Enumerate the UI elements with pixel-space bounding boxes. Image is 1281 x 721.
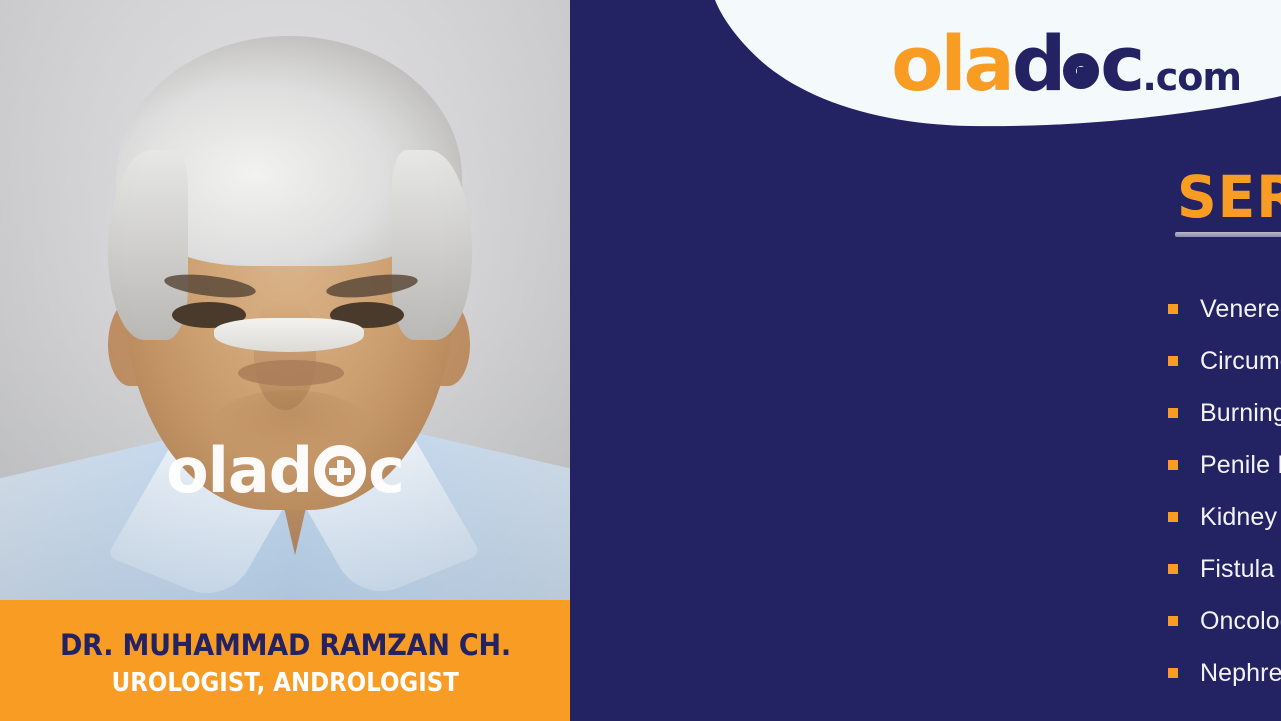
- doctor-photo-panel: olad c: [0, 0, 570, 600]
- doctor-services-card: olad c DR. MUHAMMAD RAMZAN CH. UROLOGIST…: [0, 0, 1281, 721]
- watermark-text-post: c: [368, 440, 404, 502]
- service-item[interactable]: Nephrectomy: [1168, 647, 1281, 699]
- service-label: Venereology: [1200, 295, 1281, 324]
- logo-text-d: d: [1012, 26, 1063, 102]
- doctor-name-banner: DR. MUHAMMAD RAMZAN CH. UROLOGIST, ANDRO…: [0, 600, 570, 721]
- bullet-square-icon: [1168, 616, 1178, 626]
- services-heading: SERVICES: [1177, 168, 1281, 226]
- services-columns: Venereology Circumcision Burning Micturi…: [1168, 283, 1281, 699]
- service-item[interactable]: Venereology: [1168, 283, 1281, 335]
- bullet-square-icon: [1168, 356, 1178, 366]
- watermark-plus-circle-icon: [314, 445, 366, 497]
- service-label: Oncological Surgery: [1200, 607, 1281, 636]
- doctor-portrait-image: [0, 0, 570, 600]
- services-panel: ola d c .com SERVICES Venereology Circum…: [570, 0, 1281, 721]
- doctor-specialty: UROLOGIST, ANDROLOGIST: [111, 668, 458, 698]
- service-label: Fistula: [1200, 555, 1274, 584]
- oladoc-watermark: olad c: [0, 440, 570, 502]
- services-left-column: Venereology Circumcision Burning Micturi…: [1168, 283, 1281, 699]
- service-item[interactable]: Burning Micturition: [1168, 387, 1281, 439]
- doctor-name: DR. MUHAMMAD RAMZAN CH.: [59, 628, 510, 662]
- watermark-text-pre: olad: [166, 440, 312, 502]
- service-item[interactable]: Penile Implants: [1168, 439, 1281, 491]
- logo-text-c: c: [1100, 26, 1142, 102]
- logo-tld: .com: [1142, 58, 1241, 96]
- service-item[interactable]: Fistula: [1168, 543, 1281, 595]
- portrait-vignette: [0, 0, 570, 600]
- logo-plus-circle-icon: [1063, 53, 1099, 89]
- bullet-square-icon: [1168, 668, 1178, 678]
- oladoc-logo[interactable]: ola d c .com: [891, 26, 1241, 102]
- bullet-square-icon: [1168, 304, 1178, 314]
- service-item[interactable]: Circumcision: [1168, 335, 1281, 387]
- service-item[interactable]: Oncological Surgery: [1168, 595, 1281, 647]
- bullet-square-icon: [1168, 460, 1178, 470]
- logo-text-ola: ola: [891, 26, 1012, 102]
- bullet-square-icon: [1168, 408, 1178, 418]
- service-label: Penile Implants: [1200, 451, 1281, 480]
- service-label: Circumcision: [1200, 347, 1281, 376]
- bullet-square-icon: [1168, 564, 1178, 574]
- service-item[interactable]: Kidney Failure: [1168, 491, 1281, 543]
- services-heading-underline: [1175, 232, 1281, 237]
- service-label: Kidney Failure: [1200, 503, 1281, 532]
- service-label: Burning Micturition: [1200, 399, 1281, 428]
- service-label: Nephrectomy: [1200, 659, 1281, 688]
- bullet-square-icon: [1168, 512, 1178, 522]
